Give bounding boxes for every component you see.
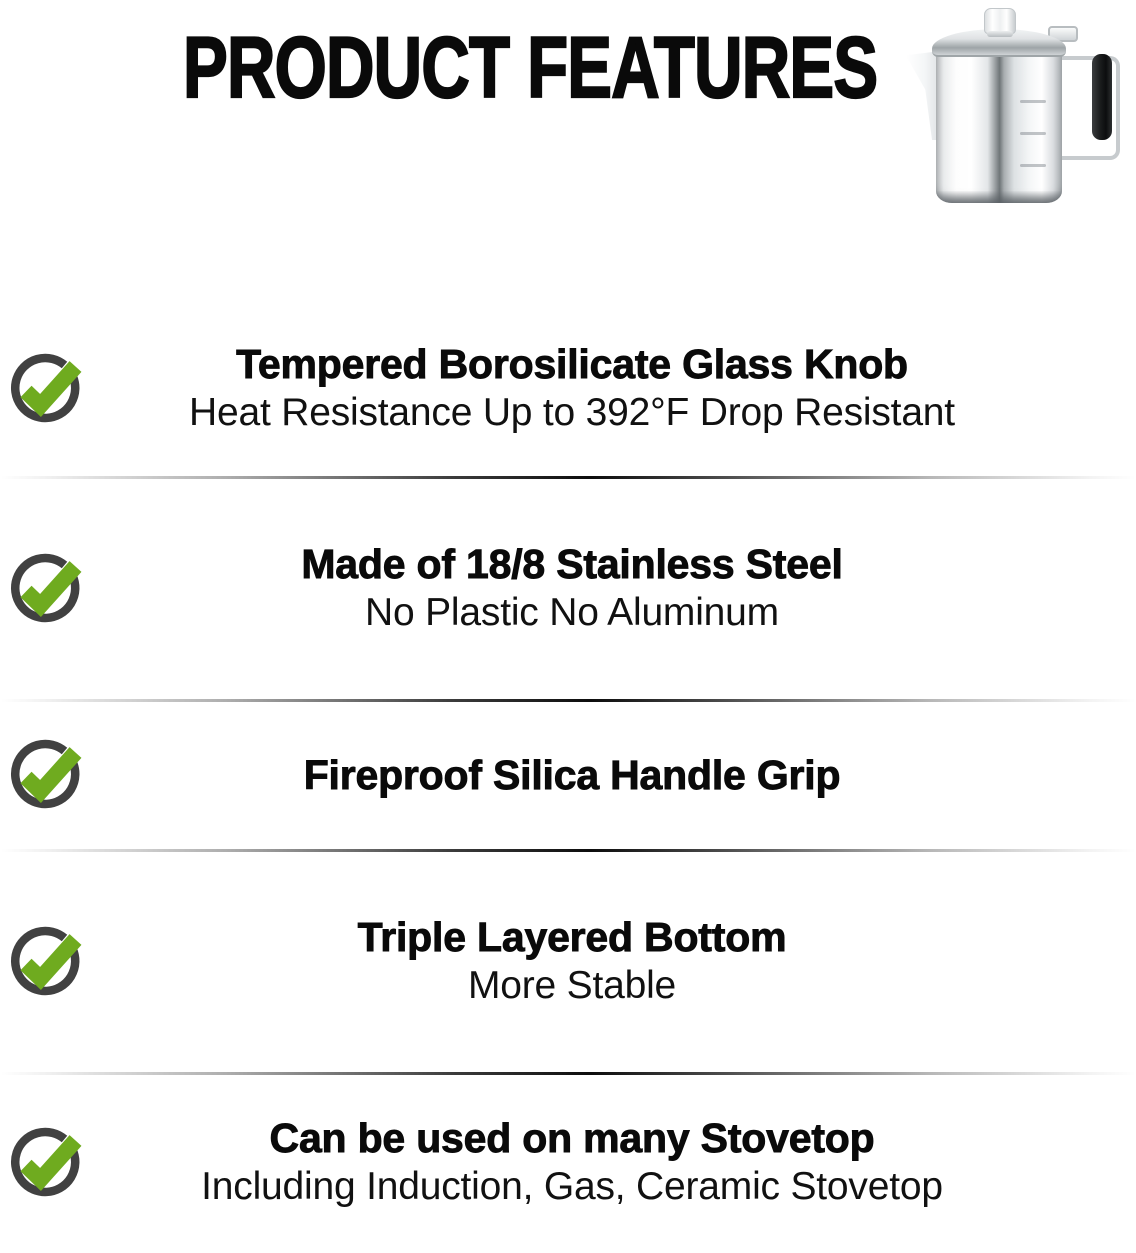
row-divider bbox=[0, 699, 1136, 702]
green-check-circle-icon bbox=[2, 920, 94, 1004]
row-divider bbox=[0, 476, 1136, 479]
feature-item-4: Triple Layered Bottom More Stable bbox=[0, 850, 1136, 1073]
feature-title: Can be used on many Stovetop bbox=[94, 1114, 1050, 1162]
pot-glass-knob bbox=[984, 8, 1016, 34]
feature-title: Made of 18/8 Stainless Steel bbox=[94, 540, 1050, 588]
product-image bbox=[898, 4, 1128, 219]
feature-text-4: Triple Layered Bottom More Stable bbox=[94, 913, 1136, 1011]
pot-volume-mark bbox=[1020, 132, 1046, 135]
page-title: PRODUCT FEATURES bbox=[183, 22, 877, 114]
green-check-circle-icon bbox=[2, 347, 94, 431]
feature-subtitle: Heat Resistance Up to 392°F Drop Resista… bbox=[94, 388, 1050, 438]
feature-title: Tempered Borosilicate Glass Knob bbox=[94, 340, 1050, 388]
feature-list: Tempered Borosilicate Glass Knob Heat Re… bbox=[0, 300, 1136, 1253]
feature-item-1: Tempered Borosilicate Glass Knob Heat Re… bbox=[0, 300, 1136, 477]
feature-item-3: Fireproof Silica Handle Grip bbox=[0, 700, 1136, 850]
feature-subtitle: More Stable bbox=[94, 961, 1050, 1011]
feature-item-5: Can be used on many Stovetop Including I… bbox=[0, 1073, 1136, 1253]
pot-volume-mark bbox=[1020, 100, 1046, 103]
pot-body bbox=[936, 48, 1062, 203]
feature-subtitle: Including Induction, Gas, Ceramic Stovet… bbox=[94, 1162, 1050, 1212]
feature-title: Fireproof Silica Handle Grip bbox=[94, 751, 1050, 799]
feature-item-2: Made of 18/8 Stainless Steel No Plastic … bbox=[0, 477, 1136, 700]
header-banner: PRODUCT FEATURES bbox=[0, 0, 1136, 300]
feature-text-1: Tempered Borosilicate Glass Knob Heat Re… bbox=[94, 340, 1136, 438]
feature-text-3: Fireproof Silica Handle Grip bbox=[94, 751, 1136, 799]
green-check-circle-icon bbox=[2, 733, 94, 817]
green-check-circle-icon bbox=[2, 547, 94, 631]
pot-volume-mark bbox=[1020, 164, 1046, 167]
row-divider bbox=[0, 1072, 1136, 1075]
feature-text-2: Made of 18/8 Stainless Steel No Plastic … bbox=[94, 540, 1136, 638]
green-check-circle-icon bbox=[2, 1121, 94, 1205]
feature-subtitle: No Plastic No Aluminum bbox=[94, 588, 1050, 638]
row-divider bbox=[0, 849, 1136, 852]
pot-handle-grip bbox=[1092, 54, 1112, 140]
feature-title: Triple Layered Bottom bbox=[94, 913, 1050, 961]
feature-text-5: Can be used on many Stovetop Including I… bbox=[94, 1114, 1136, 1212]
